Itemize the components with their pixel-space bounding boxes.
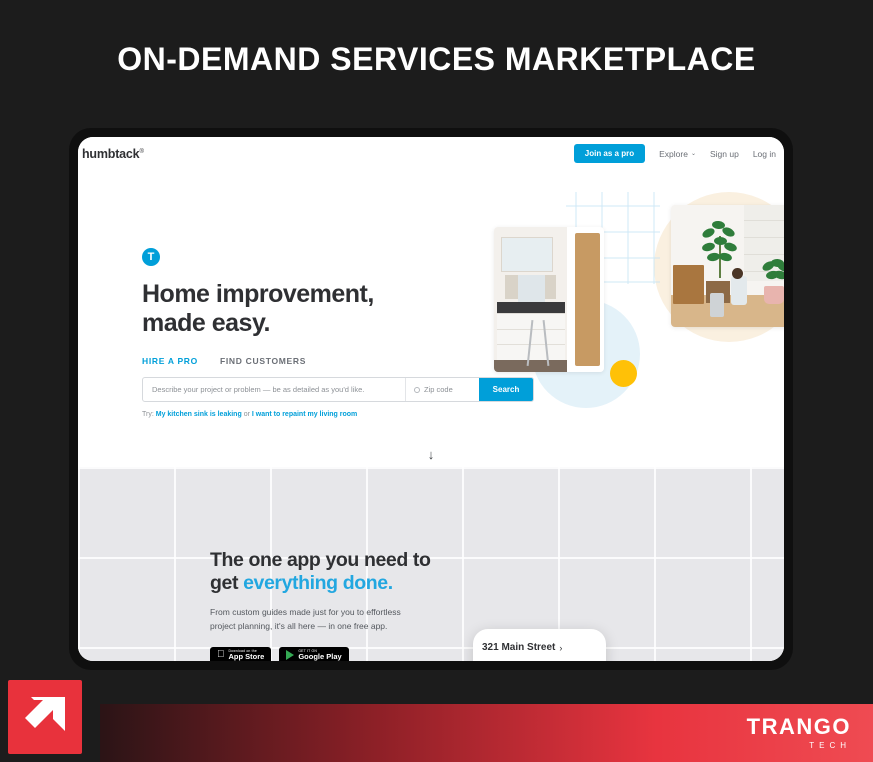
hero-copy: T Home improvement, made easy. HIRE A PR… xyxy=(142,248,452,418)
site-navbar: humbtack® Join as a pro Explore ⌄ Sign u… xyxy=(78,137,784,170)
phone-address-text: 321 Main Street xyxy=(482,642,555,653)
app-promo-heading: The one app you need to get everything d… xyxy=(210,549,460,596)
banner: ON-DEMAND SERVICES MARKETPLACE xyxy=(0,0,873,118)
hero-section: T Home improvement, made easy. HIRE A PR… xyxy=(78,170,784,467)
brand-tagline: TECH xyxy=(747,741,851,750)
scroll-down-arrow-icon[interactable]: ↓ xyxy=(78,447,784,462)
phone-address-header[interactable]: 321 Main Street › xyxy=(482,642,597,653)
search-button[interactable]: Search xyxy=(479,378,533,401)
app-subtext-line-1: From custom guides made just for you to … xyxy=(210,605,460,619)
hero-tabs: HIRE A PRO FIND CUSTOMERS xyxy=(142,356,452,366)
try-link-repaint-living-room[interactable]: I want to repaint my living room xyxy=(252,411,357,418)
zip-code-placeholder: Zip code xyxy=(424,385,453,394)
apple-icon:  xyxy=(217,650,225,660)
tab-hire-a-pro[interactable]: HIRE A PRO xyxy=(142,356,198,366)
store-badges:  Download on the App Store GET IT ON Go… xyxy=(210,647,460,661)
nav-explore-label: Explore xyxy=(659,149,688,159)
nav-signup[interactable]: Sign up xyxy=(710,149,739,159)
page-title: ON-DEMAND SERVICES MARKETPLACE xyxy=(117,41,755,78)
google-play-badge[interactable]: GET IT ON Google Play xyxy=(279,647,348,661)
phone-mockup: 321 Main Street › Your goals Home upkeep… xyxy=(473,629,606,661)
navbar-right: Join as a pro Explore ⌄ Sign up Log in xyxy=(574,144,776,163)
app-store-badge-big: App Store xyxy=(229,653,265,661)
zip-code-input[interactable]: Zip code xyxy=(405,378,479,401)
thumbtack-badge-icon: T xyxy=(142,248,160,266)
kitchen-renovation-photo xyxy=(494,227,604,372)
thumbtack-logo-text: humbtack xyxy=(82,147,139,161)
browser-viewport: humbtack® Join as a pro Explore ⌄ Sign u… xyxy=(78,137,784,661)
try-conjunction: or xyxy=(244,411,250,418)
thumbtack-logo[interactable]: humbtack® xyxy=(82,147,144,161)
trango-brand: TRANGO TECH xyxy=(747,716,851,750)
app-subtext-line-2: project planning, it's all here — in one… xyxy=(210,619,460,633)
app-store-badge[interactable]:  Download on the App Store xyxy=(210,647,271,661)
brand-name: TRANGO xyxy=(747,716,851,738)
join-as-pro-button[interactable]: Join as a pro xyxy=(574,144,645,163)
nav-explore[interactable]: Explore ⌄ xyxy=(659,149,696,159)
google-play-icon xyxy=(286,650,294,660)
tab-find-customers[interactable]: FIND CUSTOMERS xyxy=(220,356,306,366)
browser-frame: humbtack® Join as a pro Explore ⌄ Sign u… xyxy=(69,128,793,670)
app-promo-copy: The one app you need to get everything d… xyxy=(210,549,460,661)
try-link-kitchen-sink[interactable]: My kitchen sink is leaking xyxy=(156,411,242,418)
living-room-plants-photo xyxy=(671,205,784,327)
yellow-dot-decoration xyxy=(610,360,637,387)
registered-mark-icon: ® xyxy=(139,148,143,154)
app-promo-subtext: From custom guides made just for you to … xyxy=(210,605,460,633)
nav-login[interactable]: Log in xyxy=(753,149,776,159)
chevron-down-icon: ⌄ xyxy=(691,150,696,157)
chevron-right-icon: › xyxy=(559,643,562,653)
app-heading-line-2: get everything done. xyxy=(210,572,460,595)
project-description-input[interactable]: Describe your project or problem — be as… xyxy=(143,378,405,401)
google-play-badge-big: Google Play xyxy=(298,653,341,661)
hero-artwork xyxy=(484,170,784,467)
hero-heading-line-2: made easy. xyxy=(142,309,452,338)
app-heading-highlight: everything done. xyxy=(243,572,393,594)
trango-logo-mark-icon xyxy=(8,680,82,754)
hero-heading: Home improvement, made easy. xyxy=(142,280,452,338)
hero-heading-line-1: Home improvement, xyxy=(142,280,452,309)
location-pin-icon xyxy=(414,387,420,393)
try-prefix: Try: xyxy=(142,411,154,418)
hero-search-bar: Describe your project or problem — be as… xyxy=(142,377,534,402)
app-heading-prefix: get xyxy=(210,572,243,594)
app-heading-line-1: The one app you need to xyxy=(210,549,460,572)
try-suggestions: Try: My kitchen sink is leaking or I wan… xyxy=(142,411,452,418)
app-promo-section: The one app you need to get everything d… xyxy=(78,467,784,661)
footer: TRANGO TECH xyxy=(0,690,873,762)
